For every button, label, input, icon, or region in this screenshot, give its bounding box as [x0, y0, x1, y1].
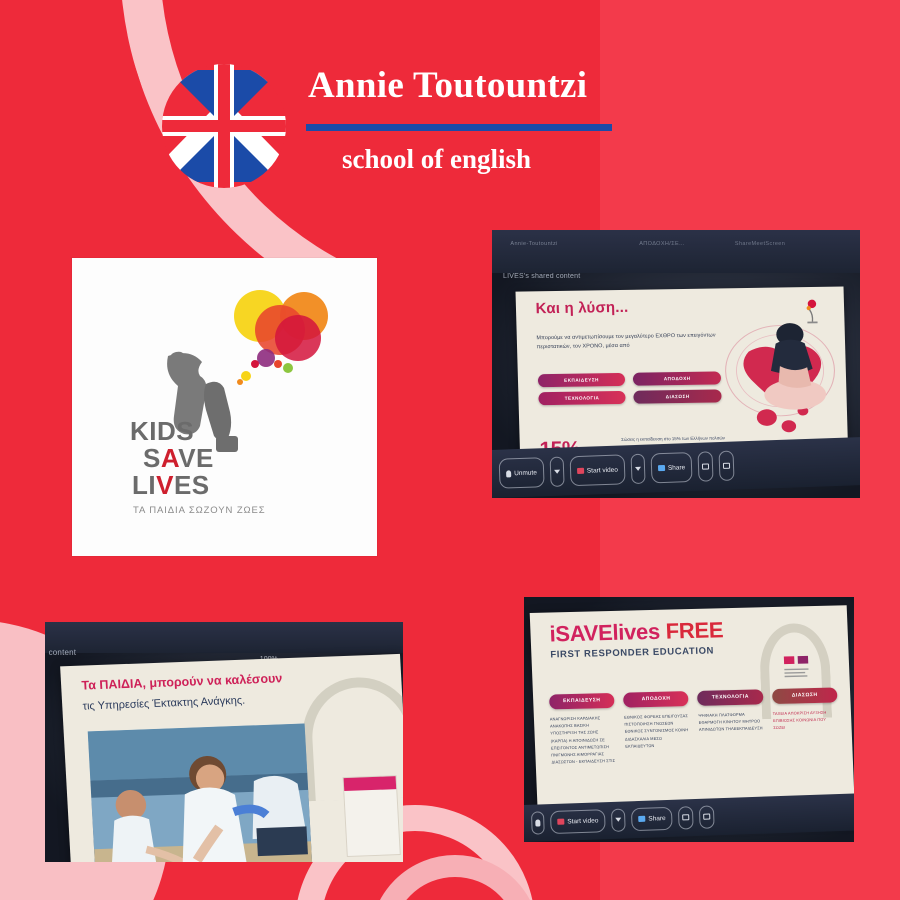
- partner-logos-badge: [775, 654, 818, 689]
- column-pill-education: ΕΚΠΑΙΔΕΥΣΗ: [549, 693, 615, 710]
- reactions-button[interactable]: [719, 450, 735, 480]
- unmute-button[interactable]: Unmute: [499, 457, 545, 488]
- microphone-muted-icon: [535, 820, 540, 827]
- column-pill-technology: ΤΕΧΝΟΛΟΓΙΑ: [697, 689, 763, 706]
- participants-button[interactable]: [678, 806, 694, 829]
- slide-subtitle: FIRST RESPONDER EDUCATION: [550, 645, 714, 660]
- emoji-icon: [723, 463, 730, 469]
- share-button[interactable]: Share: [631, 807, 673, 831]
- share-button[interactable]: Share: [650, 452, 692, 483]
- wordmark-line-2: SAVE: [130, 445, 250, 472]
- share-screen-icon: [658, 465, 665, 471]
- column-body-rescue: ΤΑΧΕΙΑ ΑΠΟΚΡΙΣΗ ΑΥΞΗΣΗ ΕΠΙΒΙΩΣΗΣ ΚΟΙΝΩΝΙ…: [772, 709, 838, 732]
- start-video-button[interactable]: Start video: [569, 454, 625, 486]
- photo-zoom-meeting-children: content 100% Τα ΠΑΙΔΙΑ, μπορούν να καλέσ…: [45, 622, 403, 862]
- start-video-label: Start video: [567, 818, 598, 826]
- video-options-chevron[interactable]: [630, 454, 645, 484]
- slide-column-group: ΕΚΠΑΙΔΕΥΣΗ ΑΝΑΓΝΩΡΙΣΗ ΚΑΡΔΙΑΚΗΣ ΑΝΑΚΟΠΗΣ…: [549, 688, 841, 798]
- camera-icon: [577, 468, 584, 474]
- slide-title: Τα ΠΑΙΔΙΑ, μπορούν να καλέσουν: [82, 672, 283, 693]
- slide-pill-rescue: ΔΙΑΣΩΣΗ: [633, 389, 721, 403]
- unmute-button[interactable]: [531, 812, 545, 835]
- column-pill-rescue: ΔΙΑΣΩΣΗ: [772, 688, 838, 705]
- brand-subtitle: school of english: [342, 144, 531, 175]
- slide-column-technology: ΤΕΧΝΟΛΟΓΙΑ ΨΗΦΙΑΚΗ ΠΛΑΤΦΟΡΜΑ ΕΦΑΡΜΟΓΗ ΚΙ…: [697, 689, 766, 794]
- slide-title: Και η λύση...: [535, 299, 628, 317]
- presentation-slide: Τα ΠΑΙΔΙΑ, μπορούν να καλέσουν τις Υπηρε…: [61, 654, 403, 862]
- slide-pill-education: ΕΚΠΑΙΔΕΥΣΗ: [537, 372, 625, 386]
- emoji-icon: [704, 814, 711, 820]
- photo-zoom-meeting-solution: Annie-Toutountzi ΑΠΟΔΟΧΗ/ΣΕ... ShareMeet…: [492, 230, 860, 498]
- participants-button[interactable]: [698, 451, 714, 481]
- column-body-technology: ΨΗΦΙΑΚΗ ΠΛΑΤΦΟΡΜΑ ΕΦΑΡΜΟΓΗ ΚΙΝΗΤΟΥ ΜΗΤΡΩ…: [698, 710, 764, 733]
- shared-content-label: LIVES's shared content: [503, 273, 580, 280]
- kids-save-lives-wordmark: KIDS SAVE LIVES ΤΑ ΠΑΙΔΙΑ ΣΩΖΟΥΝ ΖΩΕΣ: [130, 418, 250, 516]
- unmute-label: Unmute: [514, 469, 537, 477]
- slide-pill-group: ΕΚΠΑΙΔΕΥΣΗ ΑΠΟΔΟΧΗ ΤΕΧΝΟΛΟΓΙΑ ΔΙΑΣΩΣΗ: [537, 371, 721, 405]
- cpr-training-photo: [88, 724, 314, 862]
- start-video-label: Start video: [587, 466, 618, 474]
- brand-header: Annie Toutountzi school of english: [160, 52, 640, 197]
- column-body-education: ΑΝΑΓΝΩΡΙΣΗ ΚΑΡΔΙΑΚΗΣ ΑΝΑΚΟΠΗΣ ΒΑΣΙΚΗ ΥΠΟ…: [550, 714, 617, 766]
- brand-divider: [306, 124, 612, 131]
- audio-options-chevron[interactable]: [549, 456, 564, 486]
- reactions-button[interactable]: [699, 806, 715, 829]
- share-screen-icon: [638, 816, 645, 822]
- browser-tab-1-label: Annie-Toutountzi: [510, 241, 557, 247]
- union-jack-circle-icon: [160, 56, 288, 196]
- wordmark-greek-tagline: ΤΑ ΠΑΙΔΙΑ ΣΩΖΟΥΝ ΖΩΕΣ: [130, 505, 250, 516]
- poster-canvas: Annie Toutountzi school of english: [0, 0, 900, 900]
- kids-save-lives-badge-icon: [794, 297, 831, 326]
- slide-column-acceptance: ΑΠΟΔΟΧΗ ΕΘΝΙΚΟΣ ΦΟΡΕΑΣ ΕΠΕΙΓΟΥΣΑΣ ΠΙΣΤΟΠ…: [623, 691, 692, 796]
- wordmark-line-1: KIDS: [130, 418, 250, 445]
- slide-body-text: Μπορούμε να αντιμετωπίσουμε τον μεγαλύτε…: [536, 331, 726, 352]
- start-video-button[interactable]: Start video: [550, 809, 606, 834]
- zoom-window-topbar: [492, 230, 860, 273]
- slide-side-card: [343, 776, 402, 857]
- slide-pill-acceptance: ΑΠΟΔΟΧΗ: [633, 371, 721, 385]
- browser-tab-2-label: ΑΠΟΔΟΧΗ/ΣΕ...: [639, 241, 685, 247]
- slide-column-rescue: ΔΙΑΣΩΣΗ ΤΑΧΕΙΑ ΑΠΟΚΡΙΣΗ ΑΥΞΗΣΗ ΕΠΙΒΙΩΣΗΣ…: [772, 688, 841, 793]
- share-label: Share: [648, 815, 666, 823]
- chevron-down-icon: [554, 469, 560, 473]
- browser-tab-3-label: ShareMeetScreen: [735, 241, 785, 247]
- kids-save-lives-logo-card: KIDS SAVE LIVES ΤΑ ΠΑΙΔΙΑ ΣΩΖΟΥΝ ΖΩΕΣ: [72, 258, 377, 556]
- slide-pill-technology: ΤΕΧΝΟΛΟΓΙΑ: [538, 390, 626, 404]
- brand-name: Annie Toutountzi: [308, 64, 587, 107]
- microphone-muted-icon: [506, 470, 511, 477]
- person-icon: [683, 815, 690, 821]
- column-pill-acceptance: ΑΠΟΔΟΧΗ: [623, 691, 689, 708]
- camera-icon: [557, 819, 564, 825]
- share-label: Share: [668, 464, 686, 472]
- slide-subtitle: τις Υπηρεσίες Έκτακτης Ανάγκης.: [83, 695, 246, 713]
- photo-zoom-meeting-isavelives: iSAVElives FREE FIRST RESPONDER EDUCATIO…: [524, 597, 854, 842]
- chevron-down-icon: [615, 818, 621, 822]
- column-body-acceptance: ΕΘΝΙΚΟΣ ΦΟΡΕΑΣ ΕΠΕΙΓΟΥΣΑΣ ΠΙΣΤΟΠΟΙΗΣΗ ΓΝ…: [624, 712, 691, 750]
- slide-title: iSAVElives FREE: [549, 617, 724, 647]
- chevron-down-icon: [635, 467, 641, 471]
- wordmark-line-3: LIVES: [130, 472, 250, 499]
- slide-column-education: ΕΚΠΑΙΔΕΥΣΗ ΑΝΑΓΝΩΡΙΣΗ ΚΑΡΔΙΑΚΗΣ ΑΝΑΚΟΠΗΣ…: [549, 693, 618, 798]
- video-options-chevron[interactable]: [611, 809, 626, 832]
- shared-content-label: content: [49, 648, 77, 657]
- side-card-header: [344, 777, 397, 791]
- person-icon: [702, 463, 709, 469]
- zoom-window-topbar: [45, 622, 403, 653]
